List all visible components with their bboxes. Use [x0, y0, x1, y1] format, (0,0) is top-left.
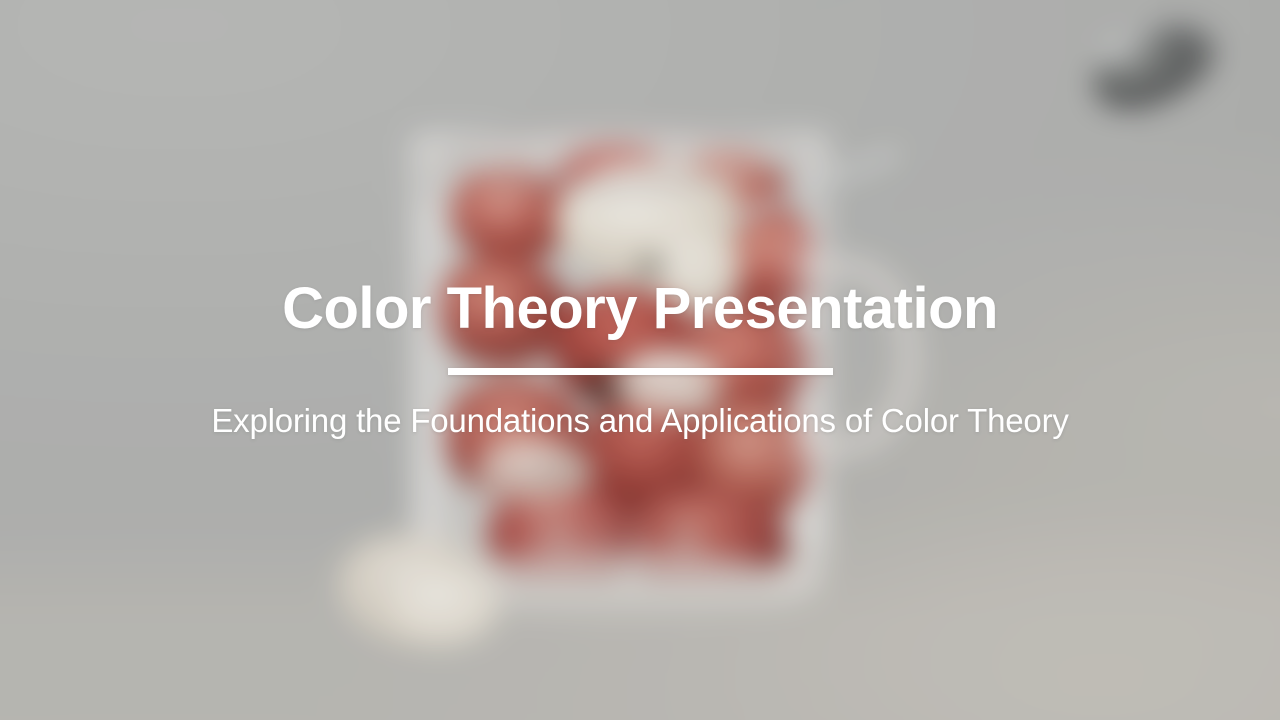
title-divider: [448, 368, 833, 375]
slide-text-block: Color Theory Presentation Exploring the …: [0, 0, 1280, 720]
slide-title: Color Theory Presentation: [282, 279, 998, 340]
slide-subtitle: Exploring the Foundations and Applicatio…: [211, 401, 1068, 441]
presentation-slide: MILK Color Theory Presentation Exploring…: [0, 0, 1280, 720]
